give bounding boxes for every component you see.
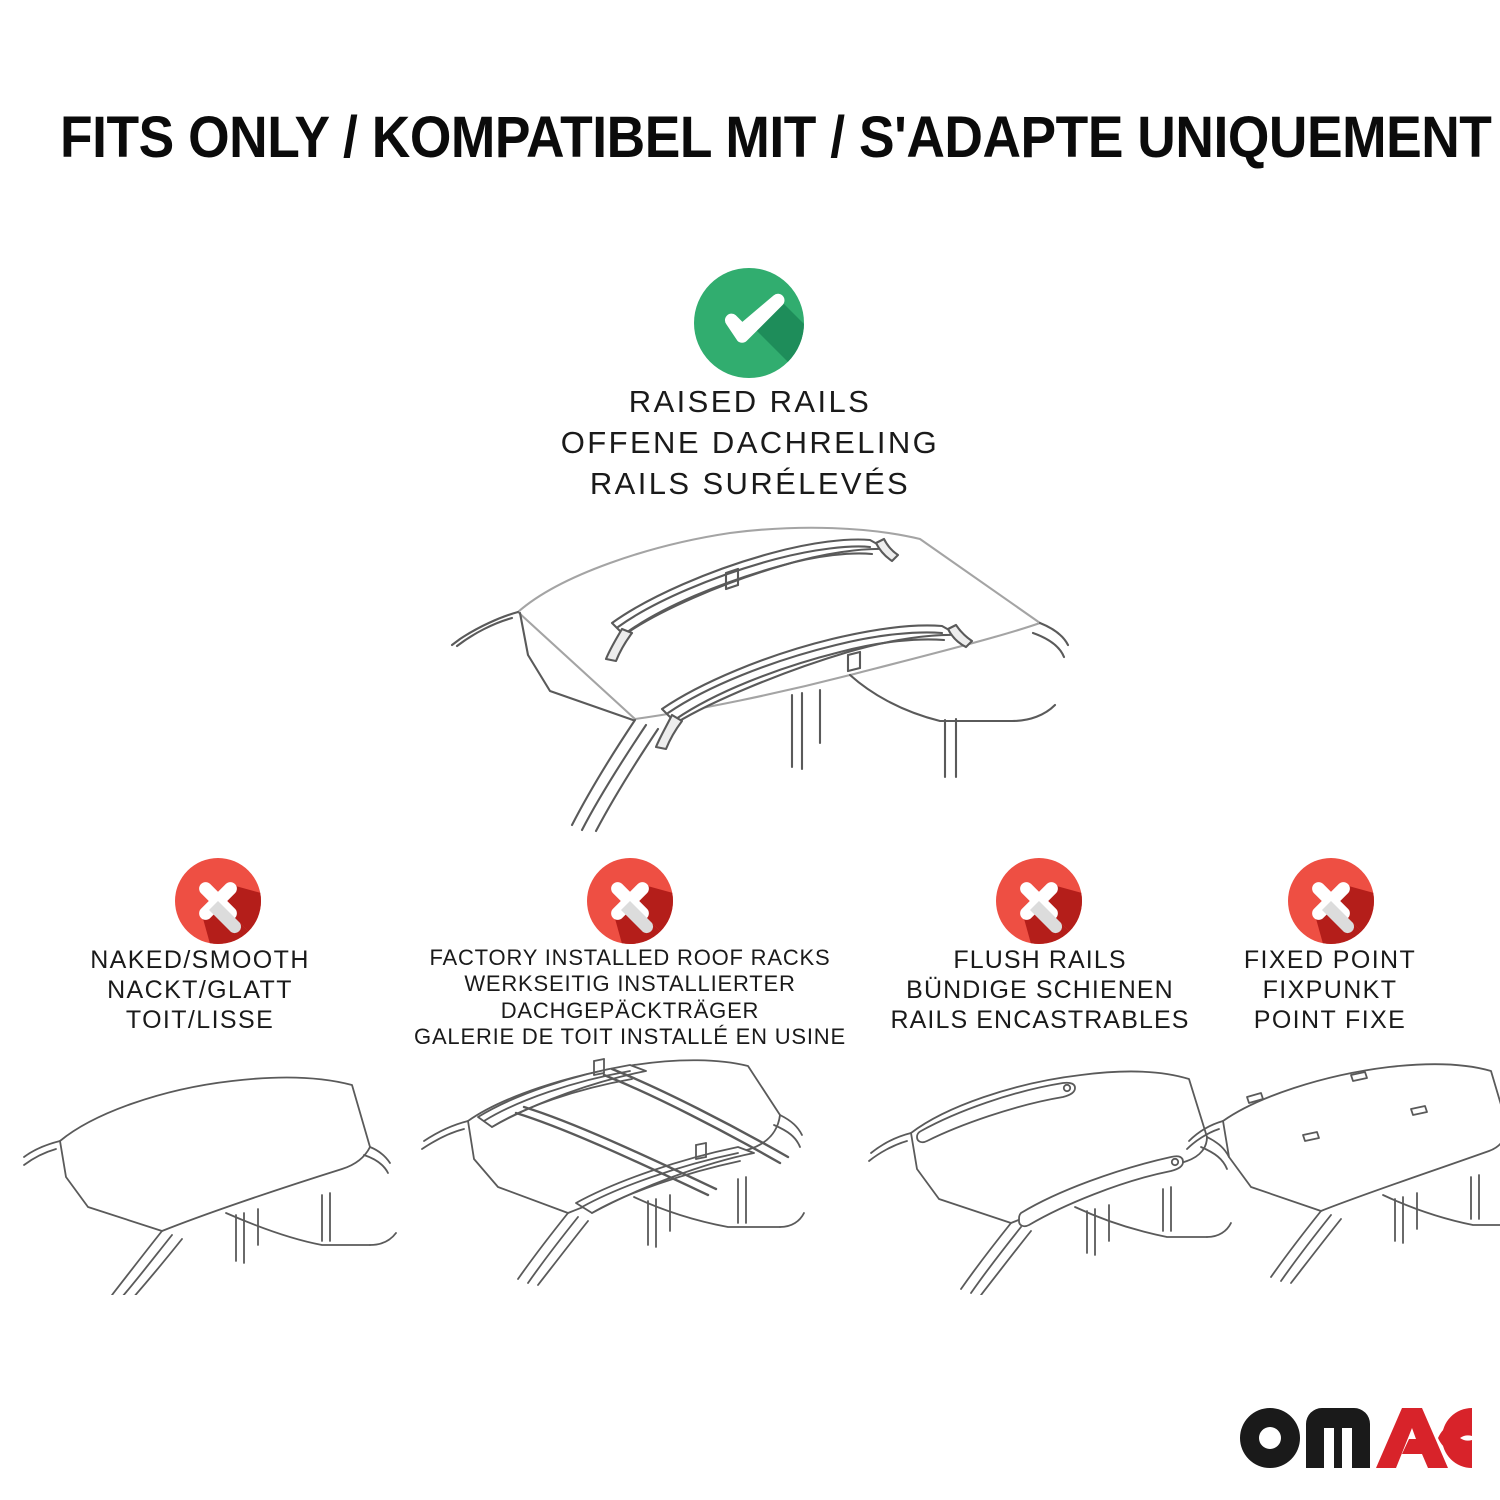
compatible-label-line-2: OFFENE DACHRELING (380, 423, 1120, 464)
incompatible-label-factory-roof-racks: FACTORY INSTALLED ROOF RACKS WERKSEITIG … (380, 945, 880, 1051)
compatible-label-line-1: RAISED RAILS (380, 382, 1120, 423)
x-circle-icon (172, 855, 264, 947)
incompatible-label-fixed-point: FIXED POINT FIXPUNKT POINT FIXE (1185, 945, 1475, 1035)
incompatible-label-naked-smooth: NAKED/SMOOTH NACKT/GLATT TOIT/LISSE (0, 945, 400, 1035)
label-line-2: WERKSEITIG INSTALLIERTER (380, 971, 880, 997)
label-line-1: FLUSH RAILS (855, 945, 1225, 975)
car-roof-factory-installed-roof-racks-illustration (408, 1055, 838, 1295)
label-line-4: GALERIE DE TOIT INSTALLÉ EN USINE (380, 1024, 880, 1050)
compatible-label-line-3: RAILS SURÉLEVÉS (380, 464, 1120, 505)
label-line-3: DACHGEPÄCKTRÄGER (380, 998, 880, 1024)
label-line-3: POINT FIXE (1185, 1005, 1475, 1035)
label-line-2: NACKT/GLATT (0, 975, 400, 1005)
incompatible-label-flush-rails: FLUSH RAILS BÜNDIGE SCHIENEN RAILS ENCAS… (855, 945, 1225, 1035)
infographic-canvas: FITS ONLY / KOMPATIBEL MIT / S'ADAPTE UN… (0, 0, 1500, 1500)
omac-logo: OMAC (1238, 1406, 1472, 1472)
label-line-1: FIXED POINT (1185, 945, 1475, 975)
label-line-2: FIXPUNKT (1185, 975, 1475, 1005)
label-line-1: NAKED/SMOOTH (0, 945, 400, 975)
car-roof-naked-smooth-illustration (22, 1055, 402, 1295)
car-roof-with-raised-rails-illustration (400, 505, 1100, 835)
compatible-label: RAISED RAILS OFFENE DACHRELING RAILS SUR… (380, 382, 1120, 505)
car-roof-fixed-point-illustration (1175, 1055, 1500, 1295)
label-line-2: BÜNDIGE SCHIENEN (855, 975, 1225, 1005)
label-line-3: RAILS ENCASTRABLES (855, 1005, 1225, 1035)
x-circle-icon (1285, 855, 1377, 947)
label-line-1: FACTORY INSTALLED ROOF RACKS (380, 945, 880, 971)
label-line-3: TOIT/LISSE (0, 1005, 400, 1035)
check-circle-icon (690, 264, 808, 382)
x-circle-icon (584, 855, 676, 947)
page-title: FITS ONLY / KOMPATIBEL MIT / S'ADAPTE UN… (60, 104, 1440, 171)
x-circle-icon (993, 855, 1085, 947)
